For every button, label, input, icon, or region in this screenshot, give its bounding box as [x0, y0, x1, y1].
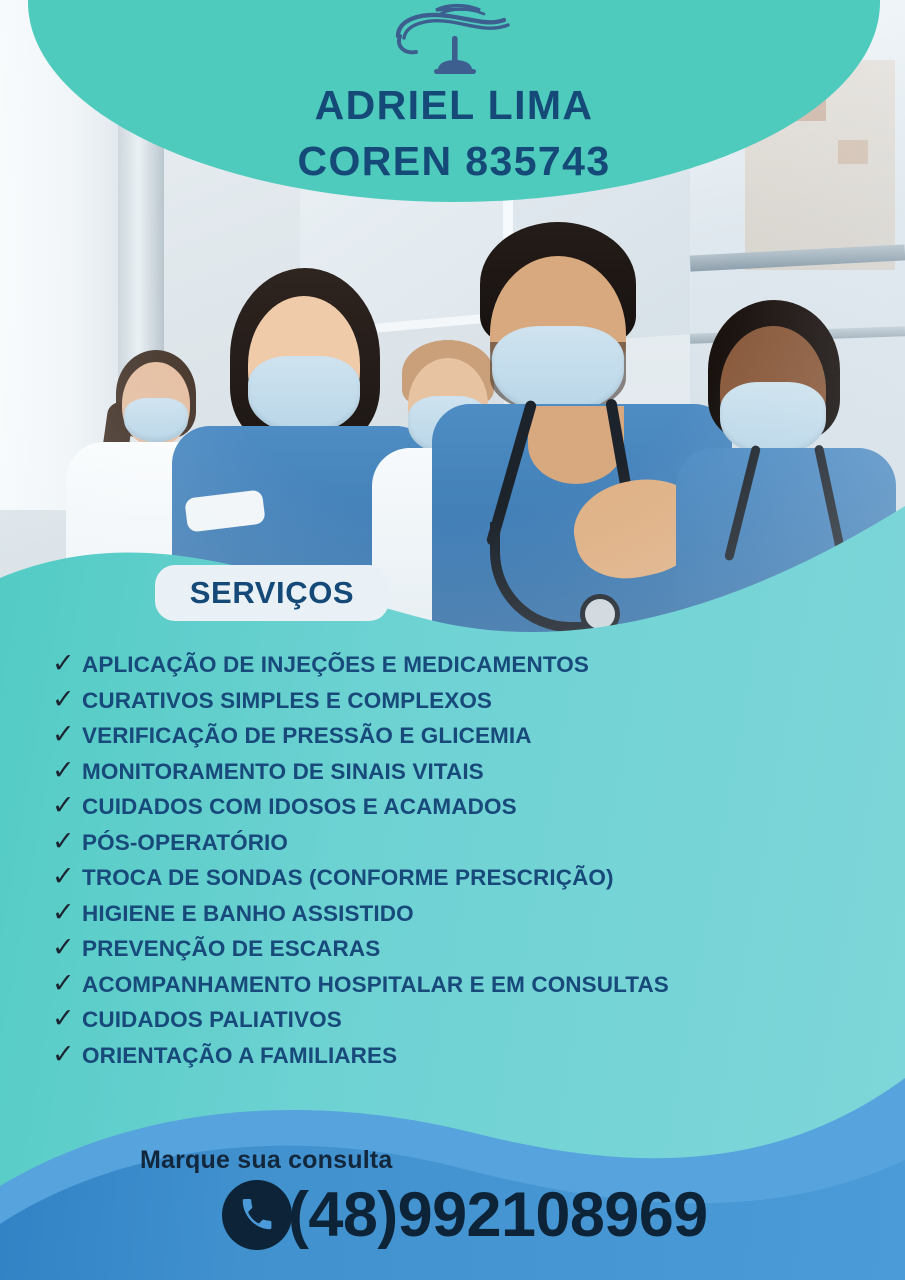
check-mark-icon: ✓: [52, 686, 82, 713]
services-title-badge: SERVIÇOS: [155, 565, 389, 621]
cta-label: Marque sua consulta: [140, 1146, 392, 1175]
list-item: ✓ APLICAÇÃO DE INJEÇÕES E MEDICAMENTOS: [52, 650, 852, 686]
service-label: PREVENÇÃO DE ESCARAS: [82, 936, 380, 962]
service-label: MONITORAMENTO DE SINAIS VITAIS: [82, 759, 484, 785]
check-mark-icon: ✓: [52, 650, 82, 677]
service-label: ACOMPANHAMENTO HOSPITALAR E EM CONSULTAS: [82, 972, 669, 998]
check-mark-icon: ✓: [52, 1005, 82, 1032]
check-mark-icon: ✓: [52, 863, 82, 890]
check-mark-icon: ✓: [52, 899, 82, 926]
coren-number: COREN 835743: [297, 139, 610, 183]
service-label: CURATIVOS SIMPLES E COMPLEXOS: [82, 688, 492, 714]
surgical-mask-icon: [492, 326, 624, 414]
service-label: VERIFICAÇÃO DE PRESSÃO E GLICEMIA: [82, 723, 532, 749]
list-item: ✓ TROCA DE SONDAS (CONFORME PRESCRIÇÃO): [52, 863, 852, 899]
service-label: CUIDADOS COM IDOSOS E ACAMADOS: [82, 794, 517, 820]
phone-contact[interactable]: (48)992108969: [222, 1180, 708, 1250]
surgical-mask-icon: [248, 356, 360, 434]
check-mark-icon: ✓: [52, 828, 82, 855]
list-item: ✓ PREVENÇÃO DE ESCARAS: [52, 934, 852, 970]
service-label: CUIDADOS PALIATIVOS: [82, 1007, 342, 1033]
service-label: TROCA DE SONDAS (CONFORME PRESCRIÇÃO): [82, 865, 614, 891]
list-item: ✓ ORIENTAÇÃO A FAMILIARES: [52, 1041, 852, 1077]
service-label: ORIENTAÇÃO A FAMILIARES: [82, 1043, 397, 1069]
list-item: ✓ HIGIENE E BANHO ASSISTIDO: [52, 899, 852, 935]
check-mark-icon: ✓: [52, 792, 82, 819]
check-mark-icon: ✓: [52, 970, 82, 997]
service-label: PÓS-OPERATÓRIO: [82, 830, 288, 856]
check-mark-icon: ✓: [52, 721, 82, 748]
phone-number[interactable]: (48)992108969: [288, 1184, 708, 1247]
check-mark-icon: ✓: [52, 934, 82, 961]
check-mark-icon: ✓: [52, 757, 82, 784]
list-item: ✓ CUIDADOS PALIATIVOS: [52, 1005, 852, 1041]
header: ADRIEL LIMA COREN 835743: [28, 0, 880, 202]
list-item: ✓ CURATIVOS SIMPLES E COMPLEXOS: [52, 686, 852, 722]
check-mark-icon: ✓: [52, 1041, 82, 1068]
flyer-poster: ADRIEL LIMA COREN 835743 SERVIÇOS ✓ APLI…: [0, 0, 905, 1280]
surgical-mask-icon: [720, 382, 826, 456]
nursing-lamp-icon: [390, 2, 518, 81]
list-item: ✓ MONITORAMENTO DE SINAIS VITAIS: [52, 757, 852, 793]
phone-handset-icon[interactable]: [222, 1180, 292, 1250]
list-item: ✓ VERIFICAÇÃO DE PRESSÃO E GLICEMIA: [52, 721, 852, 757]
services-list: ✓ APLICAÇÃO DE INJEÇÕES E MEDICAMENTOS ✓…: [52, 650, 852, 1076]
service-label: HIGIENE E BANHO ASSISTIDO: [82, 901, 414, 927]
list-item: ✓ PÓS-OPERATÓRIO: [52, 828, 852, 864]
list-item: ✓ ACOMPANHAMENTO HOSPITALAR E EM CONSULT…: [52, 970, 852, 1006]
service-label: APLICAÇÃO DE INJEÇÕES E MEDICAMENTOS: [82, 652, 589, 678]
brand-name: ADRIEL LIMA: [315, 83, 594, 127]
list-item: ✓ CUIDADOS COM IDOSOS E ACAMADOS: [52, 792, 852, 828]
services-title: SERVIÇOS: [190, 575, 354, 611]
